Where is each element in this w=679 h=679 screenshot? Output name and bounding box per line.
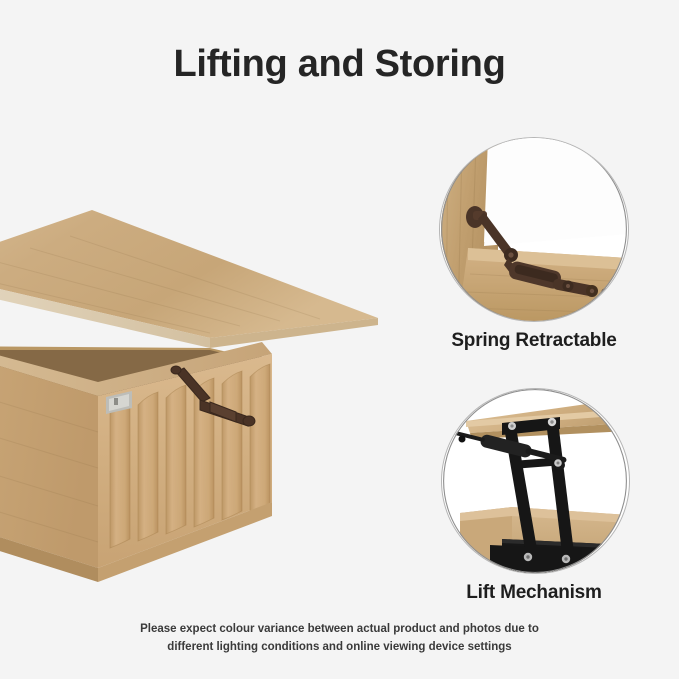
disclaimer-line-1: Please expect colour variance between ac… (140, 623, 525, 635)
infographic-canvas: Lifting and Storing (0, 0, 679, 679)
inset-lift-mechanism (442, 389, 629, 573)
chest-lid (0, 210, 378, 348)
page-title: Lifting and Storing (0, 44, 679, 86)
inset-caption-spring-retractable: Spring Retractable (384, 330, 679, 352)
hero-product-image (0, 150, 380, 620)
inset-spring-retractable (440, 138, 628, 321)
inset-caption-lift-mechanism: Lift Mechanism (384, 582, 679, 604)
colour-variance-disclaimer: Please expect colour variance between ac… (120, 621, 560, 657)
